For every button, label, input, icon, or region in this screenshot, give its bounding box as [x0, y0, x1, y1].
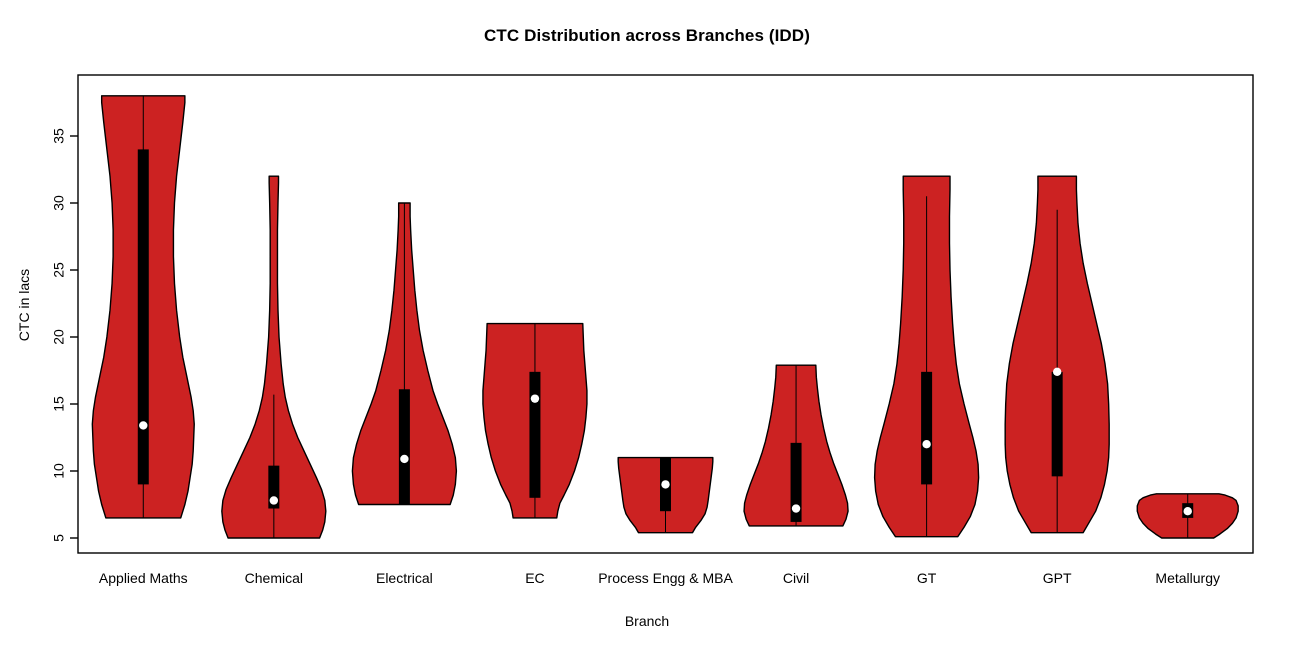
y-axis-tick-label: 30	[51, 195, 67, 211]
violin-median-point	[792, 504, 800, 512]
violin-median-point	[531, 394, 539, 402]
x-axis-tick-label: Metallurgy	[1155, 570, 1220, 586]
violin-median-point	[922, 440, 930, 448]
violin-iqr-box	[921, 372, 932, 485]
x-axis-tick-label: EC	[525, 570, 544, 586]
violin-iqr-box	[399, 389, 410, 504]
violin-median-point	[661, 480, 669, 488]
x-axis-tick-label: Chemical	[245, 570, 303, 586]
violin-iqr-box	[1052, 372, 1063, 477]
y-axis-tick-label: 20	[51, 329, 67, 345]
plot-canvas: 5101520253035Applied MathsChemicalElectr…	[0, 0, 1294, 653]
x-axis-tick-label: Civil	[783, 570, 809, 586]
violin-iqr-box	[529, 372, 540, 498]
x-axis-tick-label: GPT	[1043, 570, 1072, 586]
x-axis-tick-label: GT	[917, 570, 937, 586]
y-axis-tick-label: 5	[51, 534, 67, 542]
x-axis-tick-label: Applied Maths	[99, 570, 188, 586]
x-axis-tick-label: Process Engg & MBA	[598, 570, 733, 586]
violin-plot-figure: CTC Distribution across Branches (IDD) C…	[0, 0, 1294, 653]
violin-median-point	[139, 421, 147, 429]
y-axis-tick-label: 35	[51, 128, 67, 144]
y-axis-tick-label: 10	[51, 463, 67, 479]
violin-median-point	[1053, 368, 1061, 376]
y-axis-tick-label: 15	[51, 396, 67, 412]
x-axis-tick-label: Electrical	[376, 570, 433, 586]
violin-median-point	[1184, 507, 1192, 515]
violin-iqr-box	[138, 149, 149, 484]
violin-median-point	[270, 496, 278, 504]
y-axis-tick-label: 25	[51, 262, 67, 278]
violin-median-point	[400, 455, 408, 463]
